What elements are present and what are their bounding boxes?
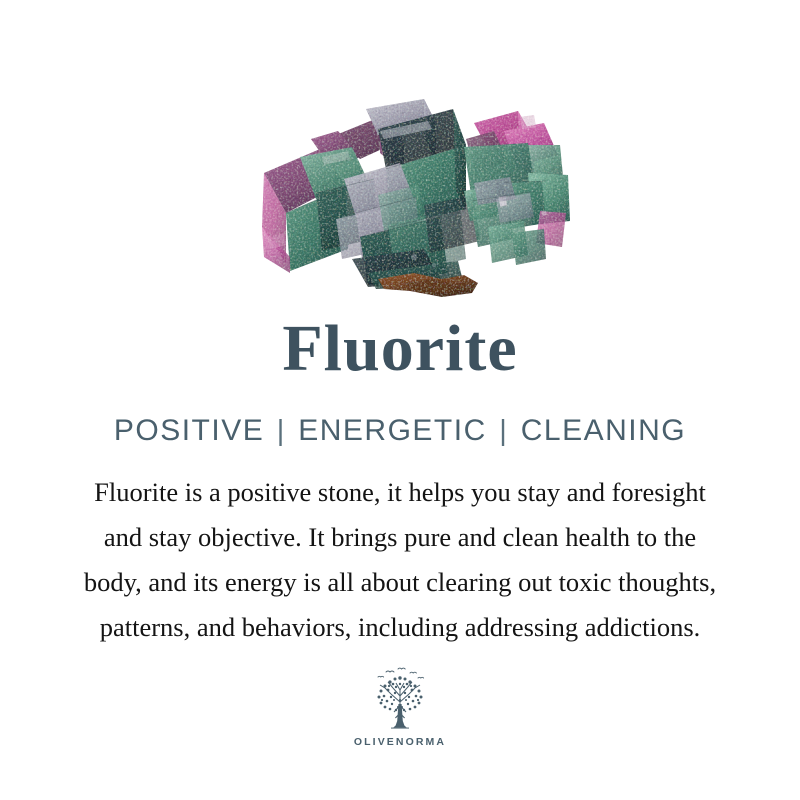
description-line: patterns, and behaviors, including addre… xyxy=(5,605,795,650)
description-line: and stay objective. It brings pure and c… xyxy=(5,515,795,560)
keyword-energetic: ENERGETIC xyxy=(298,414,487,448)
description-line: body, and its energy is all about cleari… xyxy=(5,560,795,605)
fluorite-crystal-svg xyxy=(228,87,573,302)
olive-tree-icon xyxy=(360,666,440,734)
hero-image-area xyxy=(0,0,800,310)
brand-logo: OLIVENORMA xyxy=(354,666,446,748)
keyword-list: POSITIVE | ENERGETIC | CLEANING xyxy=(114,414,686,448)
keyword-separator: | xyxy=(264,415,298,448)
description-line: Fluorite is a positive stone, it helps y… xyxy=(5,470,795,515)
keyword-cleaning: CLEANING xyxy=(521,414,686,448)
fluorite-crystal-cluster xyxy=(228,87,573,302)
page-title: Fluorite xyxy=(282,316,517,382)
keyword-separator: | xyxy=(487,415,521,448)
brand-name: OLIVENORMA xyxy=(354,736,446,748)
description-text: Fluorite is a positive stone, it helps y… xyxy=(5,470,795,650)
keyword-positive: POSITIVE xyxy=(114,414,264,448)
